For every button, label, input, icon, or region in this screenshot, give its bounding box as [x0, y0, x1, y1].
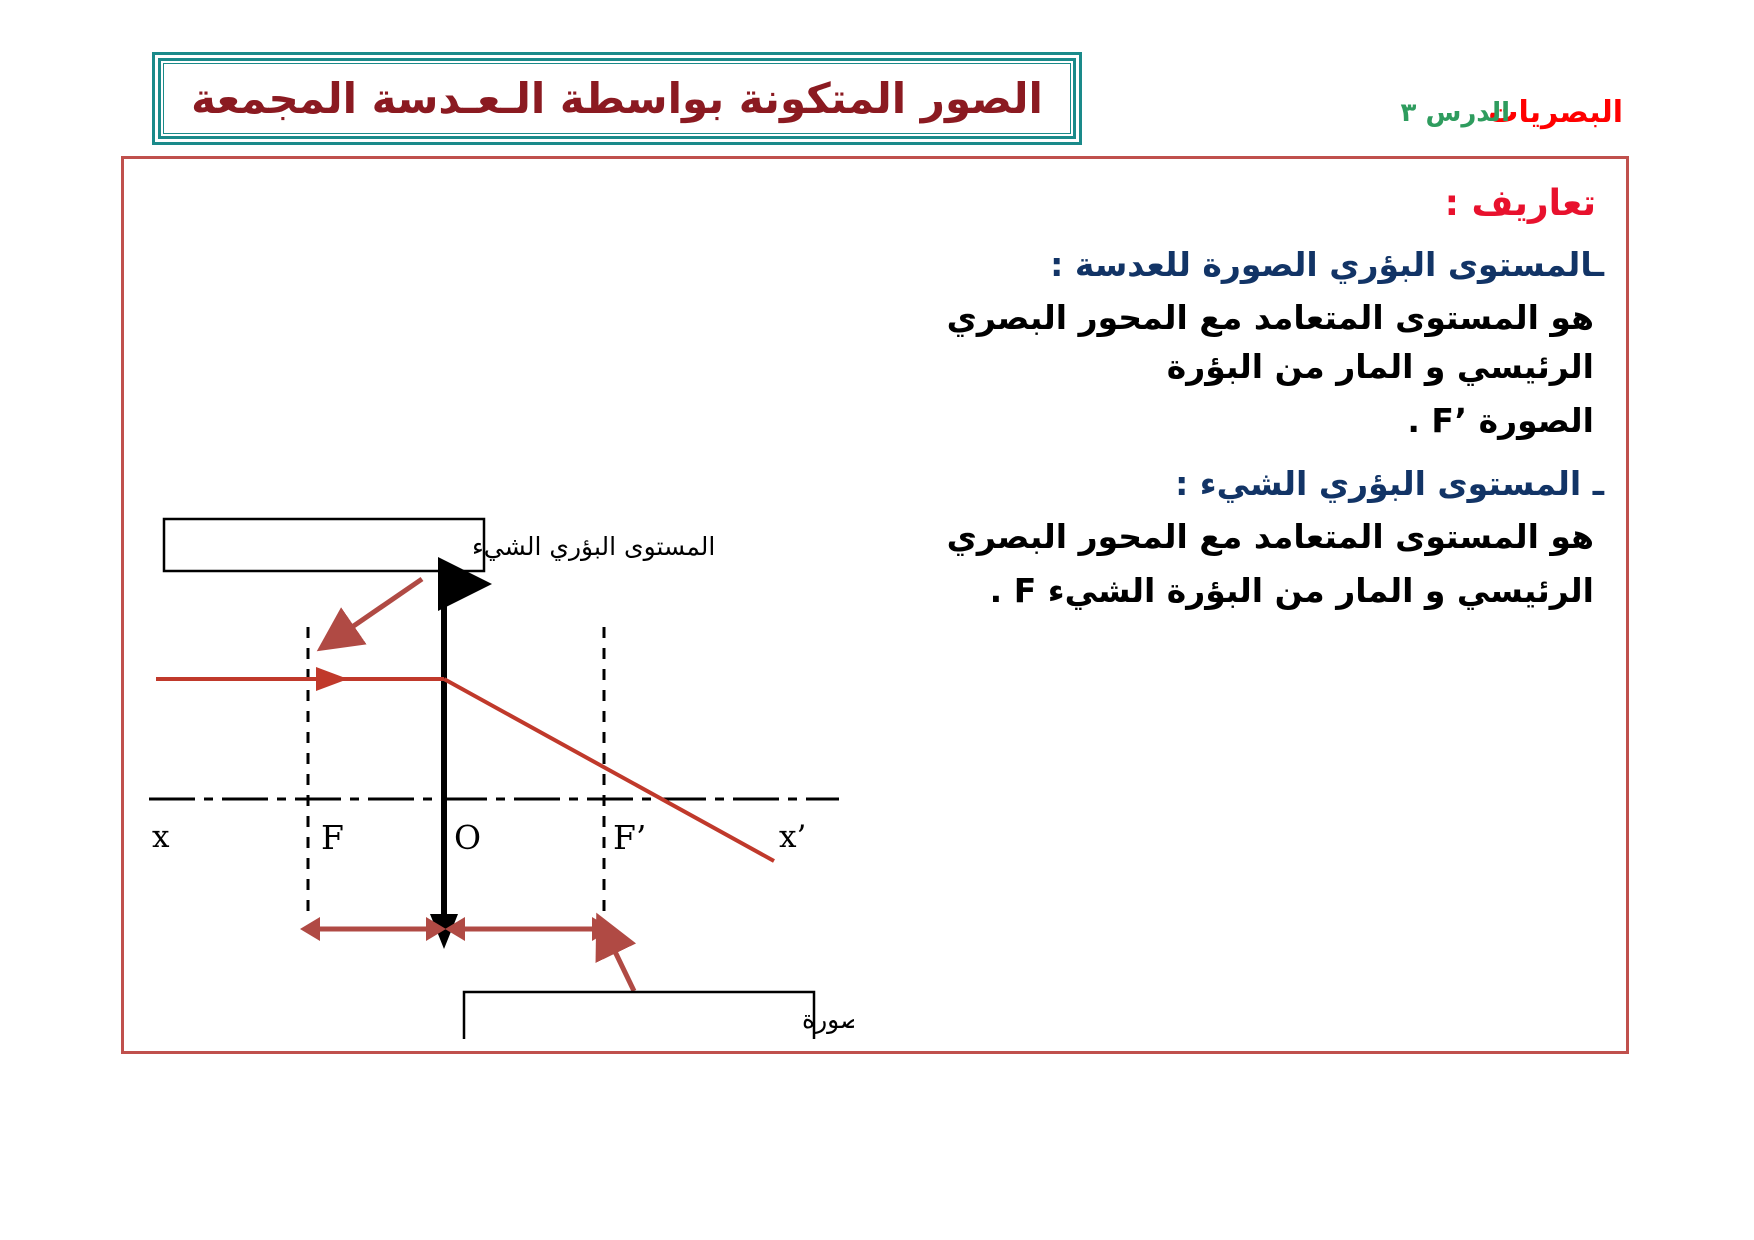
lesson-title-frame-inner2: الصور المتكونة بواسطة الـعـدسة المجمعة	[163, 63, 1071, 134]
content-box: تعاريف : ـالمستوى البؤري الصورة للعدسة :…	[121, 156, 1629, 1054]
label-focal-object-F: F	[321, 818, 344, 857]
definition-1-line-1: هو المستوى المتعامد مع المحور البصري الر…	[838, 293, 1604, 392]
callout-bottom-label: المستوى البؤري الصورة	[802, 1005, 854, 1034]
lesson-title-frame: الصور المتكونة بواسطة الـعـدسة المجمعة	[152, 52, 1082, 145]
definition-1-line-2-suffix: .	[1407, 401, 1420, 440]
incident-ray-arrowhead	[316, 667, 348, 691]
callout-box-image-focal-plane	[464, 992, 814, 1039]
lens-ray-diagram: المستوى البؤري الشيء	[134, 509, 854, 1039]
label-focal-image-F-prime: F’	[613, 818, 646, 857]
definition-2-line-2-prefix: الرئيسي و المار من البؤرة الشيء	[1048, 571, 1594, 610]
definition-1-line-2: الصورة F’ .	[838, 396, 1604, 446]
definition-2-line-1: هو المستوى المتعامد مع المحور البصري	[838, 512, 1604, 562]
callout-bottom-arrow	[608, 937, 634, 991]
refracted-ray	[444, 679, 774, 861]
definition-2-line-2: الرئيسي و المار من البؤرة الشيء F .	[838, 566, 1604, 616]
focal-object-symbol: F	[1014, 566, 1037, 616]
lesson-number-label: الدرس ٣	[1401, 98, 1510, 128]
callout-top-arrow	[339, 579, 422, 636]
definition-2-line-2-suffix: .	[990, 571, 1003, 610]
axis-label-left: x	[152, 819, 170, 855]
lesson-title-frame-inner: الصور المتكونة بواسطة الـعـدسة المجمعة	[158, 58, 1076, 139]
callout-top-label: المستوى البؤري الشيء	[472, 532, 715, 561]
subheading-image-focal-plane: ـالمستوى البؤري الصورة للعدسة :	[838, 244, 1604, 287]
definitions-text-column: تعاريف : ـالمستوى البؤري الصورة للعدسة :…	[838, 169, 1608, 619]
axis-label-right: x’	[779, 819, 806, 855]
focal-measure-left-head-start	[300, 917, 320, 941]
subheading-object-focal-plane: ـ المستوى البؤري الشيء :	[838, 463, 1604, 506]
slide-header: الصور المتكونة بواسطة الـعـدسة المجمعة ا…	[0, 0, 1754, 155]
page-title: الصور المتكونة بواسطة الـعـدسة المجمعة	[191, 74, 1043, 123]
callout-box-object-focal-plane	[164, 519, 484, 571]
definitions-heading: تعاريف :	[838, 181, 1596, 226]
definition-1-line-2-prefix: الصورة	[1479, 401, 1594, 440]
focal-image-symbol: F’	[1431, 396, 1467, 446]
label-optical-center-O: O	[454, 818, 481, 857]
